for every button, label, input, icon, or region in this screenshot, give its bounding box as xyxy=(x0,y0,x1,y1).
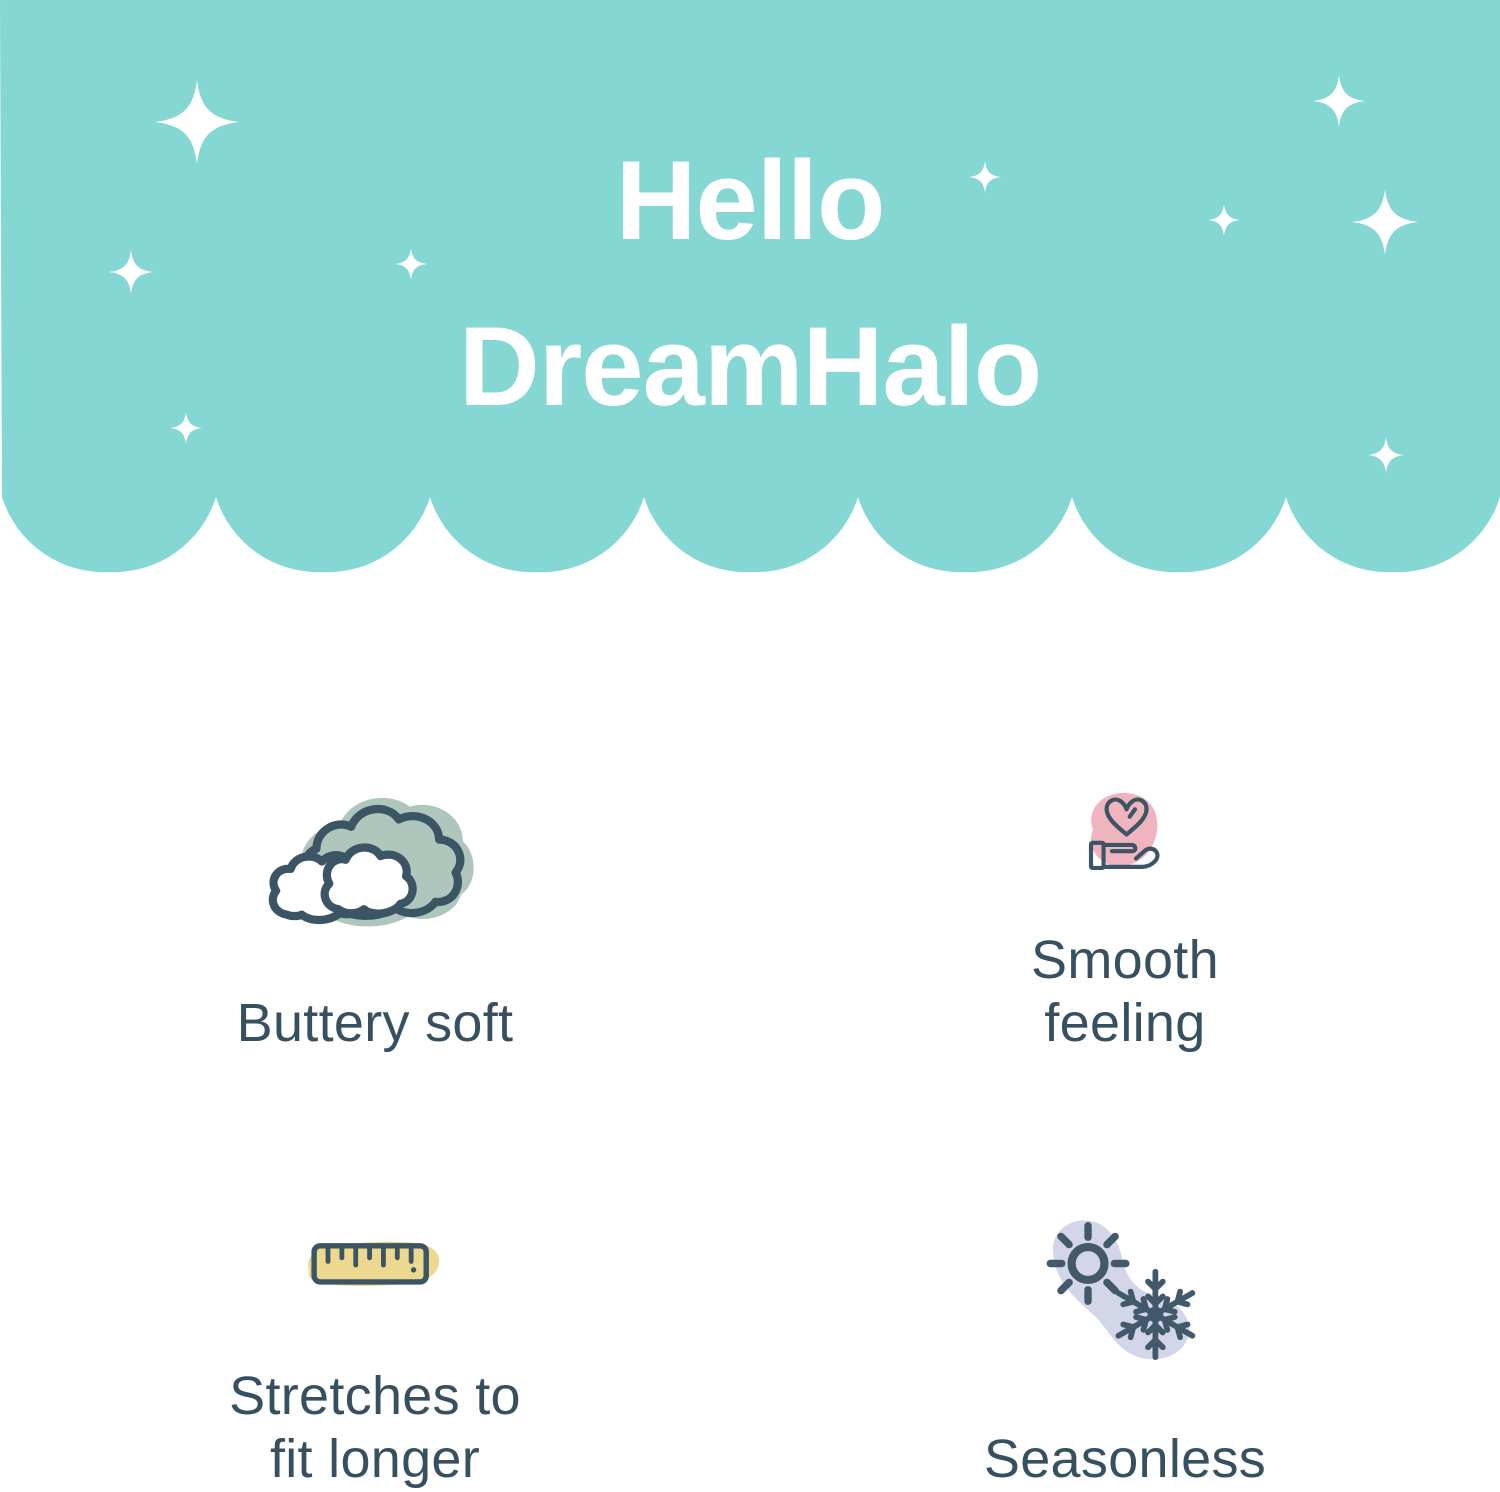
hero-background-svg xyxy=(0,0,1500,580)
poster-canvas: Hello DreamHalo Buttery soft xyxy=(0,0,1500,1492)
feature-grid: Buttery soft Smooth feeling xyxy=(0,620,1500,1492)
feature-item-smooth-feeling: Smooth feeling xyxy=(750,620,1500,1056)
season-blob xyxy=(1053,1220,1189,1359)
feature-item-seasonless: Seasonless xyxy=(750,1056,1500,1492)
feature-label-buttery-soft: Buttery soft xyxy=(237,992,514,1056)
feature-label-stretches: Stretches to fit longer xyxy=(229,1365,521,1492)
feature-label-smooth-feeling: Smooth feeling xyxy=(1031,929,1219,1056)
hero-banner: Hello DreamHalo xyxy=(0,0,1500,580)
feature-label-seasonless: Seasonless xyxy=(984,1428,1266,1492)
hero-teal-shape xyxy=(0,0,1500,580)
feature-item-stretches: Stretches to fit longer xyxy=(0,1056,750,1492)
ruler-icon xyxy=(250,1206,500,1333)
hand-holding-heart-icon xyxy=(1030,778,1220,883)
cloud-icon xyxy=(225,770,525,962)
cloud-shape-front xyxy=(325,847,413,913)
feature-item-buttery-soft: Buttery soft xyxy=(0,620,750,1056)
sun-snowflake-icon xyxy=(1010,1206,1240,1370)
ruler-dot xyxy=(411,1267,416,1272)
